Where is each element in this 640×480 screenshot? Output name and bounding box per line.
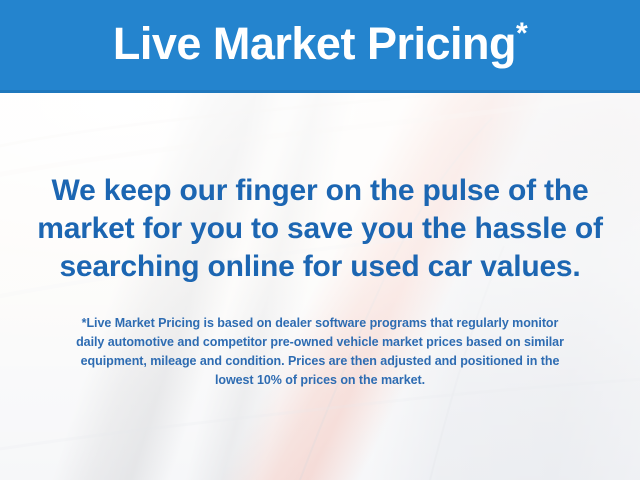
disclaimer-line-4: lowest 10% of prices on the market. [0, 371, 640, 390]
disclaimer-line-3: equipment, mileage and condition. Prices… [0, 352, 640, 371]
headline: We keep our finger on the pulse of the m… [0, 172, 640, 286]
page-title-text: Live Market Pricing [113, 18, 516, 69]
header-banner: Live Market Pricing* [0, 0, 640, 93]
headline-line-1: We keep our finger on the pulse of the [0, 172, 640, 210]
headline-line-2: market for you to save you the hassle of [0, 210, 640, 248]
page-title: Live Market Pricing* [113, 21, 527, 70]
title-asterisk: * [516, 17, 527, 50]
disclaimer-text: *Live Market Pricing is based on dealer … [0, 314, 640, 390]
disclaimer-line-2: daily automotive and competitor pre-owne… [0, 333, 640, 352]
live-market-pricing-card: Live Market Pricing* We keep our finger … [0, 0, 640, 480]
headline-line-3: searching online for used car values. [0, 248, 640, 286]
disclaimer-line-1: *Live Market Pricing is based on dealer … [0, 314, 640, 333]
